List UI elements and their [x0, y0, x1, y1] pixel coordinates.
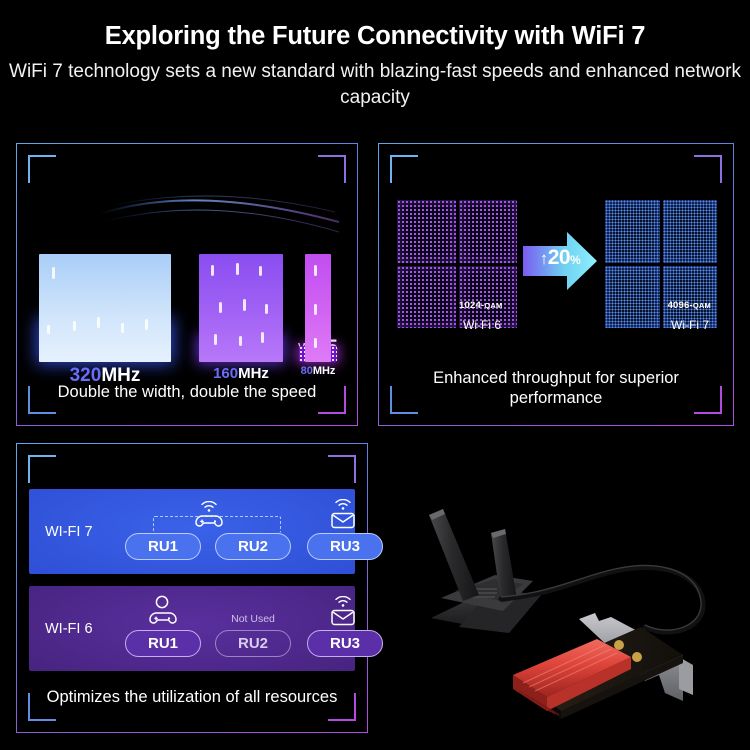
gamepad-icon — [195, 513, 223, 529]
corner-bracket-top-left — [390, 155, 418, 183]
constellation-quadrant — [397, 266, 456, 329]
light-streak-decoration — [99, 188, 339, 248]
product-infographic: Exploring the Future Connectivity with W… — [0, 0, 750, 750]
corner-bracket-top-right — [694, 155, 722, 183]
constellation-quadrant — [397, 200, 456, 263]
qam-label-wifi6: 1024-QAM — [459, 300, 502, 311]
panel-bandwidth: WiFi7 320MHz WiFi6 — [16, 143, 358, 426]
ru-row-wifi6: WI-FI 6 Not Used — [29, 586, 355, 671]
bandwidth-bar-wifi7 — [39, 254, 171, 362]
ru-pill-wifi6-ru1[interactable]: RU1 — [125, 630, 201, 657]
standard-label-wifi7: Wi-Fi 7 — [671, 318, 709, 332]
bandwidth-value-wifi5: 80MHz — [301, 365, 336, 377]
ru-row-label-wifi7: WI-FI 7 — [45, 524, 93, 540]
panel-resource-units: WI-FI 7 — [16, 443, 368, 733]
bandwidth-value-wifi6: 160MHz — [213, 365, 269, 382]
constellation-quadrant — [605, 200, 660, 263]
ru-row-wifi7: WI-FI 7 — [29, 489, 355, 574]
product-image — [383, 443, 743, 743]
constellation-quadrant — [663, 200, 718, 263]
wifi-icon — [335, 596, 351, 607]
ru-row-label-wifi6: WI-FI 6 — [45, 621, 93, 637]
standard-label-wifi6: Wi-Fi 6 — [463, 318, 501, 332]
qam-comparison: 1024-QAM Wi-Fi 6 ↑20% — [397, 200, 717, 345]
panel-caption-qam: Enhanced throughput for superior perform… — [393, 368, 719, 409]
qam-label-wifi7: 4096-QAM — [668, 300, 711, 311]
ru-pill-wifi6-ru2[interactable]: RU2 — [215, 630, 291, 657]
gamepad-icon — [149, 610, 177, 626]
panel-qam: 1024-QAM Wi-Fi 6 ↑20% — [378, 143, 734, 426]
wifi-icon — [201, 501, 217, 512]
ru-pill-wifi7-ru2[interactable]: RU2 — [215, 533, 291, 560]
page-subtitle: WiFi 7 technology sets a new standard wi… — [0, 59, 750, 110]
page-title: Exploring the Future Connectivity with W… — [0, 22, 750, 50]
corner-bracket-top-left — [28, 455, 56, 483]
panel-caption-resource-units: Optimizes the utilization of all resourc… — [31, 687, 353, 708]
improvement-value: ↑20% — [529, 246, 591, 270]
constellation-quadrant — [459, 200, 518, 263]
constellation-quadrant — [605, 266, 660, 329]
panel-caption-bandwidth: Double the width, double the speed — [31, 382, 343, 403]
resource-unit-diagram: WI-FI 7 — [29, 489, 355, 681]
corner-bracket-top-right — [328, 455, 356, 483]
ru-pill-wifi6-ru3[interactable]: RU3 — [307, 630, 383, 657]
antenna-base — [431, 575, 541, 633]
ru-not-used-label: Not Used — [215, 613, 291, 625]
header: Exploring the Future Connectivity with W… — [0, 22, 750, 110]
envelope-icon — [331, 512, 355, 529]
bandwidth-chart: WiFi7 320MHz WiFi6 — [39, 172, 337, 362]
ru-pill-wifi7-ru1[interactable]: RU1 — [125, 533, 201, 560]
antenna-left — [429, 509, 479, 601]
ru-pill-wifi7-ru3[interactable]: RU3 — [307, 533, 383, 560]
bandwidth-bar-wifi6 — [199, 254, 283, 362]
envelope-icon — [331, 609, 355, 626]
bandwidth-bar-wifi5 — [305, 254, 331, 362]
wifi-icon — [335, 499, 351, 510]
no-signal-circle-icon — [155, 595, 169, 609]
